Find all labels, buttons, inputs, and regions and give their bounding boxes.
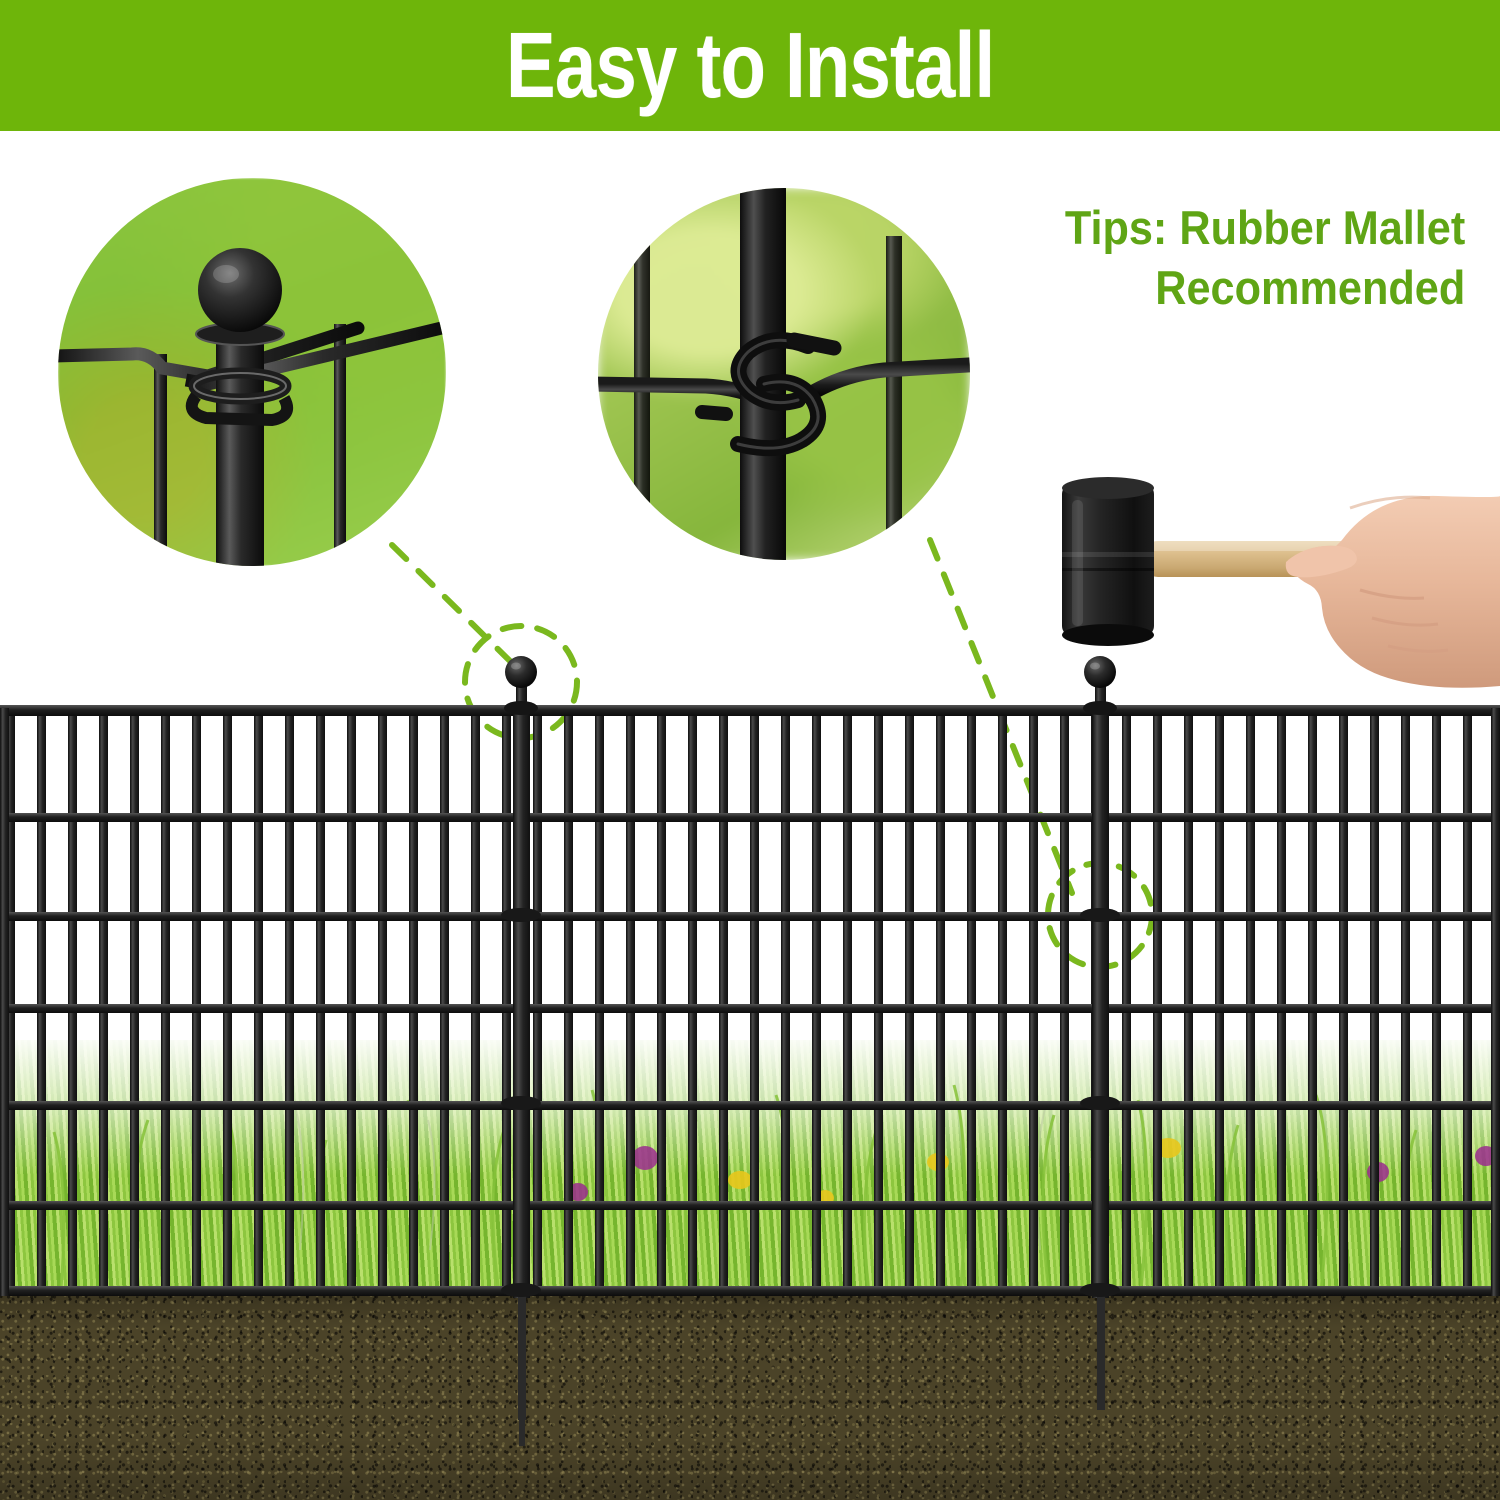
s-hook-connector-illustration xyxy=(598,188,970,560)
ground-stake xyxy=(1097,1290,1105,1410)
ground-stake xyxy=(518,1290,526,1420)
header-banner: Easy to Install xyxy=(0,0,1500,131)
tips-text: Tips: Rubber Mallet Recommended xyxy=(1065,198,1465,318)
fence-scene xyxy=(0,600,1500,1500)
ball-finial-illustration xyxy=(58,178,446,566)
tips-line-1: Tips: Rubber Mallet xyxy=(1065,201,1465,254)
fence-left-edge-bar xyxy=(0,708,9,1296)
inset-ball-finial-detail xyxy=(58,178,446,566)
inset-connector-detail xyxy=(598,188,970,560)
product-marketing-image: Easy to Install Tips: Rubber Mallet Reco… xyxy=(0,0,1500,1500)
page-title: Easy to Install xyxy=(506,19,994,112)
fence-vertical-bars xyxy=(0,600,1500,1500)
fence-panels xyxy=(0,600,1500,1500)
tips-line-2: Recommended xyxy=(1065,258,1465,318)
fence-right-edge-bar xyxy=(1491,708,1500,1296)
